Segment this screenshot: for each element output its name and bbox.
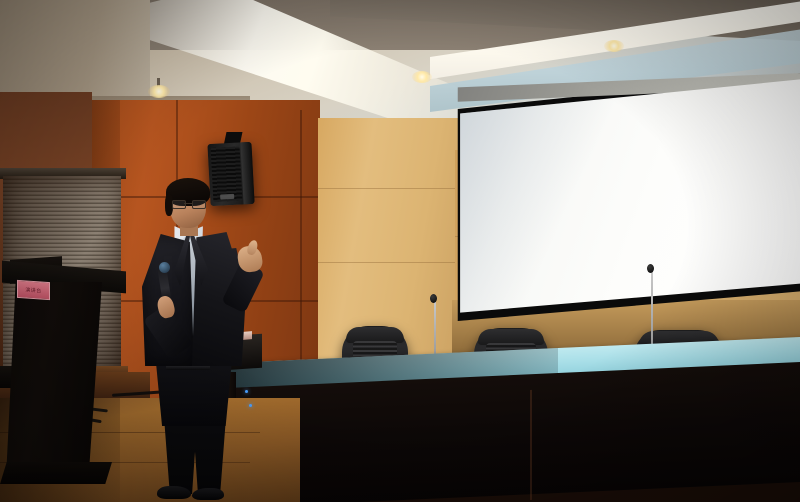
presenter-shoe-left [157, 486, 191, 499]
presenter-legs [158, 416, 232, 494]
panel-seam-1 [318, 188, 463, 189]
downlight-3 [604, 40, 624, 52]
glasses-lens-right [192, 200, 206, 209]
projection-screen[interactable]: 证券化公司 在境内开展资产证券化业务时，目前存在两类交易所的专项资产管理计划，资… [456, 76, 800, 316]
presenter-shoe-right [192, 488, 224, 500]
glasses-bridge [184, 203, 192, 204]
glasses-lens-left [172, 200, 186, 209]
downlight-2 [412, 71, 432, 83]
podium-base [0, 462, 112, 484]
glasses-icon [172, 200, 204, 207]
projector-glare [456, 76, 800, 316]
downlight-1 [148, 85, 170, 98]
presentation-photo: 证券化公司 在境内开展资产证券化业务时，目前存在两类交易所的专项资产管理计划，资… [0, 0, 800, 502]
podium-name-card: 演讲台 [17, 280, 50, 300]
conference-table-seam [530, 390, 532, 500]
wood-seam-v2 [300, 110, 302, 400]
microphone-head-icon [159, 262, 170, 273]
table-mic-head-left [430, 294, 437, 303]
presenter [130, 168, 290, 502]
panel-seam-2 [318, 262, 463, 263]
table-mic-head-right [647, 264, 654, 273]
podium-body [6, 282, 102, 478]
